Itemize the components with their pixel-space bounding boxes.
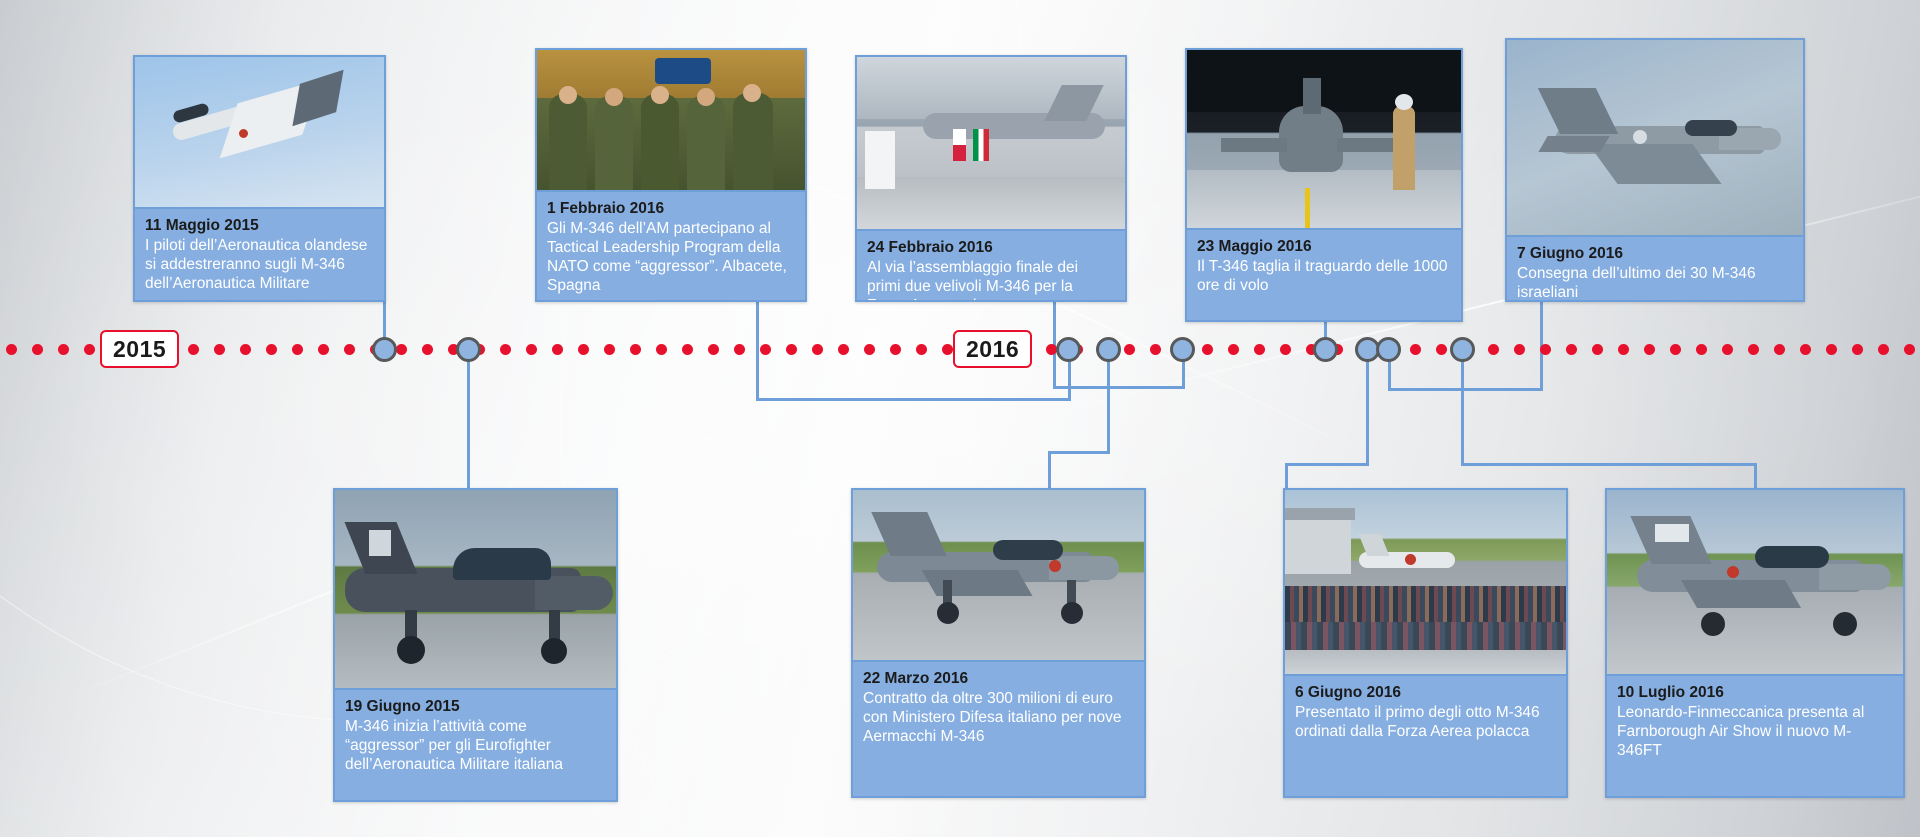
timeline-dot — [1826, 344, 1837, 355]
node-23-maggio-2016[interactable] — [1313, 337, 1338, 362]
timeline-dot — [708, 344, 719, 355]
card-date: 11 Maggio 2015 — [145, 216, 374, 235]
connector-c3-h — [1053, 386, 1185, 389]
node-1-febbraio-2016[interactable] — [1056, 337, 1081, 362]
timeline-dot — [1592, 344, 1603, 355]
card-date: 7 Giugno 2016 — [1517, 244, 1793, 263]
timeline-dot — [1878, 344, 1889, 355]
jet-tail-fin-shape — [1303, 78, 1321, 114]
timeline-dot — [1410, 344, 1421, 355]
tail-marking-icon — [369, 530, 391, 556]
jet-canopy-shape — [453, 548, 551, 580]
connector-c8-h — [1285, 463, 1369, 466]
flag-it-icon — [973, 129, 989, 161]
tail-marking-m346ft-label — [1655, 524, 1689, 542]
timeline-card-22-marzo-2016[interactable]: 22 Marzo 2016 Contratto da oltre 300 mil… — [851, 488, 1146, 798]
crowd-ceremony-photo — [1285, 490, 1566, 676]
timeline-dot — [1722, 344, 1733, 355]
timeline-card-10-luglio-2016[interactable]: 10 Luglio 2016 Leonardo-Finmeccanica pre… — [1605, 488, 1905, 798]
pilot-figure — [549, 94, 587, 190]
timeline-card-23-maggio-2016[interactable]: 23 Maggio 2016 Il T-346 taglia il tragua… — [1185, 48, 1463, 322]
timeline-dot — [1644, 344, 1655, 355]
connector-c8-v1 — [1366, 358, 1369, 465]
timeline-card-7-giugno-2016[interactable]: 7 Giugno 2016 Consegna dell’ultimo dei 3… — [1505, 38, 1805, 302]
timeline-dot — [682, 344, 693, 355]
m346-runway-photo — [853, 490, 1144, 662]
timeline-dot — [318, 344, 329, 355]
timeline-dot — [188, 344, 199, 355]
jet-nose-shape — [535, 576, 613, 610]
connector-c7-v2 — [1048, 451, 1051, 488]
jet-roundel-icon — [1405, 554, 1416, 565]
hq-logo-icon — [655, 58, 711, 84]
timeline-dot — [84, 344, 95, 355]
timeline-dot — [526, 344, 537, 355]
connector-c7-h — [1048, 451, 1110, 454]
pilot-figure — [687, 96, 725, 190]
pilot-figure — [733, 93, 773, 190]
card-description: M-346 inizia l’attività come “aggressor”… — [345, 717, 606, 774]
node-10-luglio-2016[interactable] — [1450, 337, 1475, 362]
hangar-door-jet-photo — [1187, 50, 1461, 230]
m346-in-flight-photo — [135, 57, 384, 209]
apron-shape — [1285, 650, 1566, 674]
card-description: Consegna dell’ultimo dei 30 M-346 israel… — [1517, 264, 1793, 302]
hangar-roof-shape — [1285, 508, 1355, 520]
connector-c2-h — [756, 398, 1071, 401]
crowd-row-shape — [1285, 622, 1566, 652]
connector-c3-v2 — [1182, 360, 1185, 389]
israeli-m346-photo — [1507, 40, 1803, 237]
card-body: 6 Giugno 2016 Presentato il primo degli … — [1285, 676, 1566, 796]
landing-gear-wheel-icon — [937, 602, 959, 624]
flag-pl-icon — [953, 129, 966, 161]
hangar-assembly-photo — [857, 57, 1125, 231]
connector-c9-v1 — [1461, 358, 1464, 465]
hangar-building-shape — [1285, 516, 1351, 574]
card-body: 23 Maggio 2016 Il T-346 taglia il tragua… — [1187, 230, 1461, 320]
timeline-dot — [32, 344, 43, 355]
connector-c9-h — [1461, 463, 1757, 466]
timeline-dot — [1696, 344, 1707, 355]
pilot-head — [697, 88, 715, 106]
timeline-dot — [1254, 344, 1265, 355]
timeline-dot — [578, 344, 589, 355]
connector-c7-v1 — [1107, 358, 1110, 453]
timeline-dot — [1852, 344, 1863, 355]
pilot-head — [651, 86, 669, 104]
timeline-dot — [1618, 344, 1629, 355]
jet-front-fuselage-shape — [1279, 106, 1343, 172]
timeline-year-2016: 2016 — [953, 330, 1032, 368]
timeline-dot — [1566, 344, 1577, 355]
connector-c2-v2 — [1068, 360, 1071, 401]
node-22-marzo-2016[interactable] — [1096, 337, 1121, 362]
pilot-head — [743, 84, 761, 102]
card-date: 23 Maggio 2016 — [1197, 237, 1451, 256]
jet-tail-shape — [1538, 88, 1618, 134]
timeline-dot — [1202, 344, 1213, 355]
card-body: 7 Giugno 2016 Consegna dell’ultimo dei 3… — [1507, 237, 1803, 302]
card-date: 22 Marzo 2016 — [863, 669, 1134, 688]
landing-gear-wheel-icon — [397, 636, 425, 664]
card-date: 10 Luglio 2016 — [1617, 683, 1893, 702]
timeline-dot — [942, 344, 953, 355]
timeline-card-24-febbraio-2016[interactable]: 24 Febbraio 2016 Al via l’assemblaggio f… — [855, 55, 1127, 302]
timeline-dot — [396, 344, 407, 355]
timeline-dot — [214, 344, 225, 355]
timeline-dot — [838, 344, 849, 355]
timeline-dot — [864, 344, 875, 355]
timeline-dot — [1774, 344, 1785, 355]
hangar-dark-frame-shape — [1187, 50, 1461, 112]
pilot-figure — [595, 96, 633, 190]
card-body: 11 Maggio 2015 I piloti dell’Aeronautica… — [135, 209, 384, 302]
marshaller-figure — [1393, 106, 1415, 190]
timeline-dot — [266, 344, 277, 355]
card-date: 1 Febbraio 2016 — [547, 199, 795, 218]
timeline-dot — [292, 344, 303, 355]
timeline-dot — [890, 344, 901, 355]
landing-gear-wheel-icon — [1701, 612, 1725, 636]
yellow-taxiline-shape — [1305, 188, 1310, 228]
card-body: 10 Luglio 2016 Leonardo-Finmeccanica pre… — [1607, 676, 1903, 796]
timeline-year-2015: 2015 — [100, 330, 179, 368]
timeline-dot — [1800, 344, 1811, 355]
jet-canopy-shape — [1685, 120, 1737, 136]
landing-gear-wheel-icon — [541, 638, 567, 664]
jet-wing-left-shape — [1221, 138, 1287, 152]
timeline-infographic: 20152016 11 Maggio 2015 I piloti dell’Ae… — [0, 0, 1920, 837]
jet-tail-shape — [292, 70, 343, 127]
connector-c9-v2 — [1754, 463, 1757, 488]
apron-shape — [1187, 170, 1461, 228]
timeline-dot — [630, 344, 641, 355]
timeline-card-1-febbraio-2016[interactable]: 1 Febbraio 2016 Gli M-346 dell’AM partec… — [535, 48, 807, 302]
card-date: 19 Giugno 2015 — [345, 697, 606, 716]
timeline-dot — [916, 344, 927, 355]
timeline-dot — [760, 344, 771, 355]
timeline-dot — [786, 344, 797, 355]
timeline-dot — [1904, 344, 1915, 355]
connector-c5-h — [1388, 388, 1543, 391]
timeline-dot — [1150, 344, 1161, 355]
timeline-dot — [1540, 344, 1551, 355]
card-body: 24 Febbraio 2016 Al via l’assemblaggio f… — [857, 231, 1125, 302]
timeline-dot — [58, 344, 69, 355]
card-description: Il T-346 taglia il traguardo delle 1000 … — [1197, 257, 1451, 295]
card-description: Presentato il primo degli otto M-346 ord… — [1295, 703, 1556, 741]
star-of-david-roundel-icon — [1633, 130, 1647, 144]
card-description: Contratto da oltre 300 milioni di euro c… — [863, 689, 1134, 746]
timeline-dot — [656, 344, 667, 355]
m346-taxiing-photo — [335, 490, 616, 690]
pilot-head — [559, 86, 577, 104]
banner-stand-shape — [865, 131, 895, 189]
card-body: 1 Febbraio 2016 Gli M-346 dell’AM partec… — [537, 192, 805, 302]
card-description: Al via l’assemblaggio finale dei primi d… — [867, 258, 1115, 302]
card-date: 6 Giugno 2016 — [1295, 683, 1556, 702]
hangar-floor-shape — [857, 177, 1125, 229]
jet-wing-shape — [921, 570, 1032, 596]
node-19-giugno-2015[interactable] — [456, 337, 481, 362]
connector-c5-v2 — [1388, 360, 1391, 391]
timeline-dot — [1488, 344, 1499, 355]
m346ft-farnborough-photo — [1607, 490, 1903, 676]
timeline-dot — [604, 344, 615, 355]
timeline-dot — [1670, 344, 1681, 355]
jet-tailfin-shape — [871, 512, 947, 556]
jet-roundel-icon — [239, 129, 248, 138]
timeline-dot — [344, 344, 355, 355]
timeline-card-11-maggio-2015[interactable]: 11 Maggio 2015 I piloti dell’Aeronautica… — [133, 55, 386, 302]
timeline-dot — [422, 344, 433, 355]
card-body: 22 Marzo 2016 Contratto da oltre 300 mil… — [853, 662, 1144, 796]
timeline-dot — [1748, 344, 1759, 355]
node-7-giugno-2016[interactable] — [1376, 337, 1401, 362]
timeline-dot — [734, 344, 745, 355]
pilot-head — [605, 88, 623, 106]
jet-canopy-shape — [1755, 546, 1829, 568]
card-body: 19 Giugno 2015 M-346 inizia l’attività c… — [335, 690, 616, 800]
roundel-icon — [1727, 566, 1739, 578]
card-description: Gli M-346 dell’AM partecipano al Tactica… — [547, 219, 795, 295]
node-11-maggio-2015[interactable] — [372, 337, 397, 362]
timeline-dot — [1436, 344, 1447, 355]
timeline-dot — [812, 344, 823, 355]
node-24-febbraio-2016[interactable] — [1170, 337, 1195, 362]
connector-c8-v2 — [1285, 463, 1288, 488]
card-date: 24 Febbraio 2016 — [867, 238, 1115, 257]
timeline-dot — [1280, 344, 1291, 355]
timeline-dot — [6, 344, 17, 355]
card-description: Leonardo-Finmeccanica presenta al Farnbo… — [1617, 703, 1893, 760]
timeline-dot — [1514, 344, 1525, 355]
connector-c6-v1 — [467, 358, 470, 488]
jet-wing-shape — [1681, 580, 1801, 608]
landing-gear-wheel-icon — [1061, 602, 1083, 624]
timeline-dot — [240, 344, 251, 355]
timeline-dot — [552, 344, 563, 355]
timeline-card-19-giugno-2015[interactable]: 19 Giugno 2015 M-346 inizia l’attività c… — [333, 488, 618, 802]
roundel-icon — [1049, 560, 1061, 572]
jet-nose-shape — [1819, 564, 1891, 590]
marshaller-helmet-icon — [1395, 94, 1413, 110]
pilots-group-photo — [537, 50, 805, 192]
pilot-figure — [641, 94, 679, 190]
jet-stabilizer-shape — [1538, 136, 1609, 152]
landing-gear-wheel-icon — [1833, 612, 1857, 636]
timeline-axis: 20152016 — [0, 339, 1920, 361]
card-description: I piloti dell’Aeronautica olandese si ad… — [145, 236, 374, 293]
timeline-dot — [1124, 344, 1135, 355]
jet-canopy-shape — [993, 540, 1063, 560]
timeline-card-6-giugno-2016[interactable]: 6 Giugno 2016 Presentato il primo degli … — [1283, 488, 1568, 798]
timeline-dot — [1228, 344, 1239, 355]
timeline-dot — [500, 344, 511, 355]
